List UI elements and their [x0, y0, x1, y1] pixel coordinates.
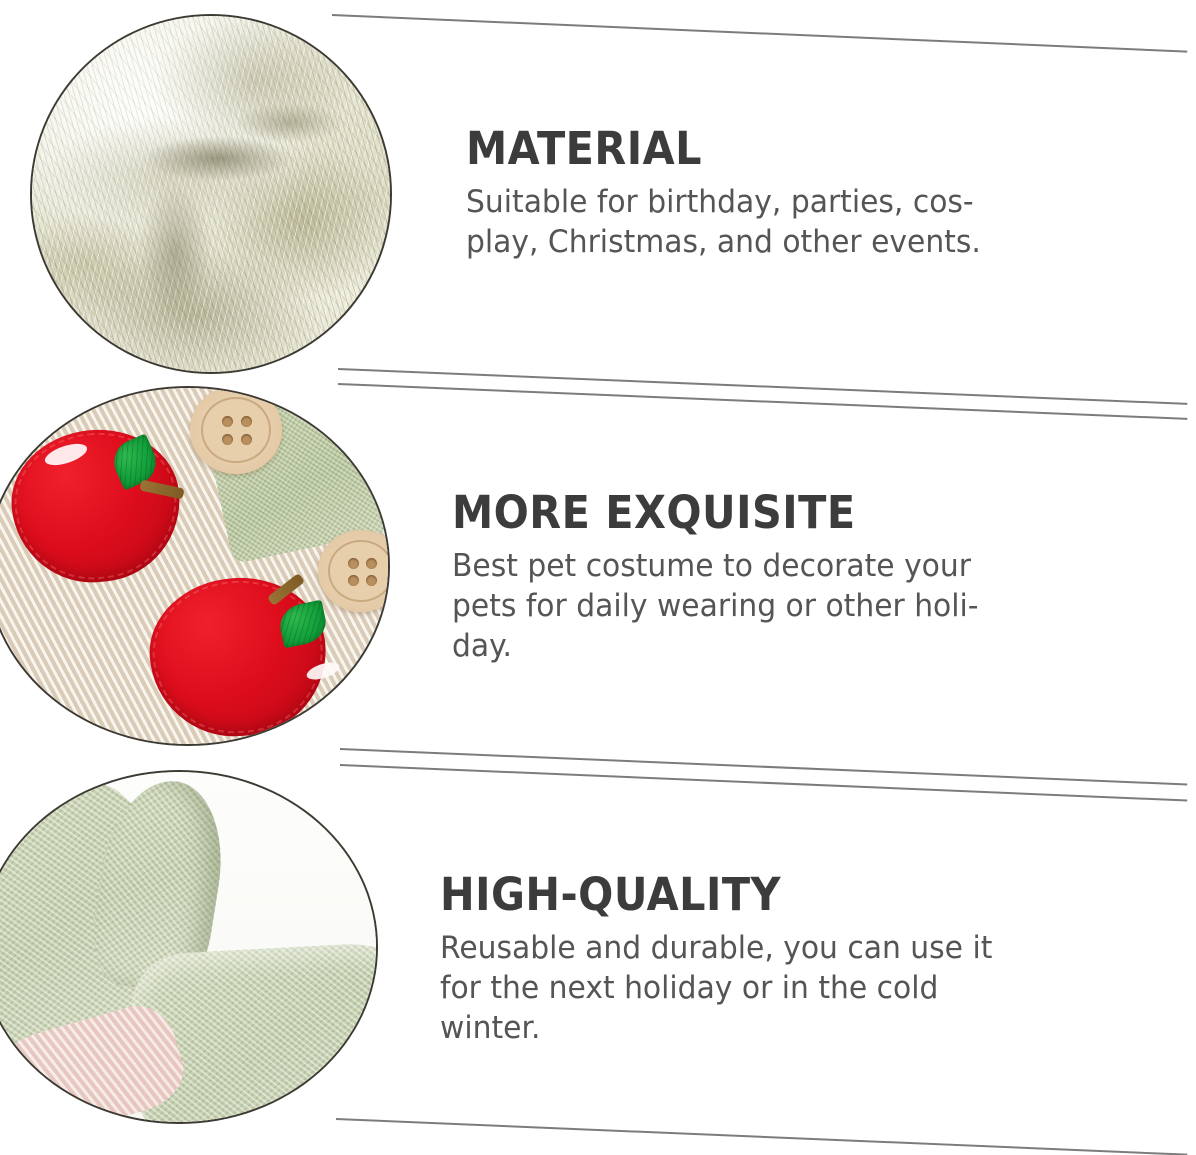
description-line: for the next holiday or in the cold	[440, 970, 938, 1006]
page-title-high-quality: HIGH-QUALITY	[440, 872, 1010, 918]
description-line: winter.	[440, 1010, 540, 1046]
feature-copy-high-quality: HIGH-QUALITY Reusable and durable, you c…	[440, 872, 1060, 1049]
feature-high-quality: HIGH-QUALITY Reusable and durable, you c…	[0, 0, 1196, 1155]
folded-sage-green-knit-sweater-closeup	[0, 772, 376, 1122]
feature-description-high-quality: Reusable and durable, you can use it for…	[440, 928, 1035, 1049]
product-feature-infographic: MATERIAL Suitable for birthday, parties,…	[0, 0, 1196, 1155]
feature-image-high-quality	[0, 772, 376, 1122]
description-line: Reusable and durable, you can use it	[440, 930, 992, 966]
